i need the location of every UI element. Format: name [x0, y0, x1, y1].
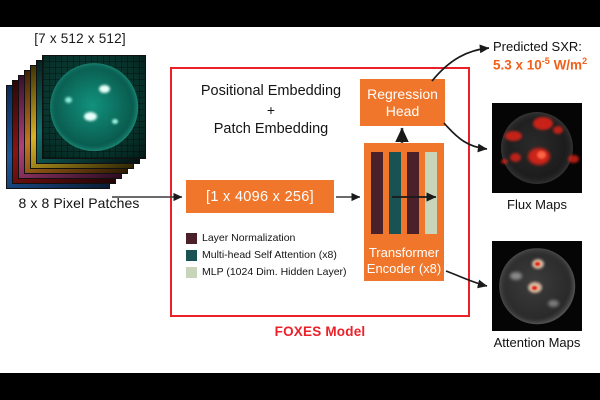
patch-embedding-label: Patch Embedding [178, 120, 364, 139]
legend-swatch-layer-normalization [186, 233, 197, 244]
attention-maps-caption: Attention Maps [483, 335, 591, 350]
predicted-sxr-label: Predicted SXR: [493, 39, 582, 54]
regression-head-line1: Regression [367, 86, 438, 103]
input-channel-layer-top [42, 55, 146, 159]
encoder-label-line2: Encoder (x8) [364, 261, 444, 276]
embedding-text-block: Positional Embedding + Patch Embedding [178, 82, 364, 139]
predicted-sxr-value: 5.3 x 10-5 W/m2 [493, 56, 587, 73]
flux-map-image [492, 103, 582, 193]
figure-stage: [7 x 512 x 512] [0, 0, 600, 400]
input-shape-label: [7 x 512 x 512] [6, 31, 154, 46]
sxr-units: W/m [550, 58, 582, 73]
regression-head-line2: Head [386, 103, 419, 120]
sxr-mantissa: 5.3 x 10 [493, 58, 542, 73]
solar-disc [50, 63, 138, 151]
transformer-encoder-box: Transformer Encoder (x8) [364, 143, 444, 281]
legend-label-mlp: MLP (1024 Dim. Hidden Layer) [202, 266, 347, 278]
legend-item-mlp: MLP (1024 Dim. Hidden Layer) [186, 265, 366, 279]
input-image-stack [6, 55, 146, 190]
legend-swatch-mlp [186, 267, 197, 278]
legend-label-layer-normalization: Layer Normalization [202, 232, 295, 244]
diagram-canvas: [7 x 512 x 512] [0, 27, 600, 373]
embedding-tensor-box: [1 x 4096 x 256] [186, 180, 334, 213]
plus-symbol: + [178, 101, 364, 119]
encoder-bar-layernorm-2 [407, 152, 419, 234]
legend-item-layer-normalization: Layer Normalization [186, 231, 366, 245]
legend-label-multi-head-self-attention: Multi-head Self Attention (x8) [202, 249, 337, 261]
encoder-label: Transformer Encoder (x8) [364, 245, 444, 276]
attention-map-image [492, 241, 582, 331]
encoder-label-line1: Transformer [364, 245, 444, 260]
flux-maps-caption: Flux Maps [483, 197, 591, 212]
regression-head-box: Regression Head [360, 79, 445, 126]
sxr-units-exponent: 2 [582, 56, 587, 66]
encoder-bar-layernorm-1 [371, 152, 383, 234]
positional-embedding-label: Positional Embedding [178, 82, 364, 101]
legend-item-multi-head-self-attention: Multi-head Self Attention (x8) [186, 248, 366, 262]
sxr-exponent: -5 [542, 56, 550, 66]
encoder-bar-attention [389, 152, 401, 234]
encoder-bar-mlp [425, 152, 437, 234]
foxes-model-caption: FOXES Model [170, 324, 470, 339]
patch-size-label: 8 x 8 Pixel Patches [0, 195, 158, 211]
legend: Layer Normalization Multi-head Self Atte… [186, 231, 366, 282]
legend-swatch-multi-head-self-attention [186, 250, 197, 261]
